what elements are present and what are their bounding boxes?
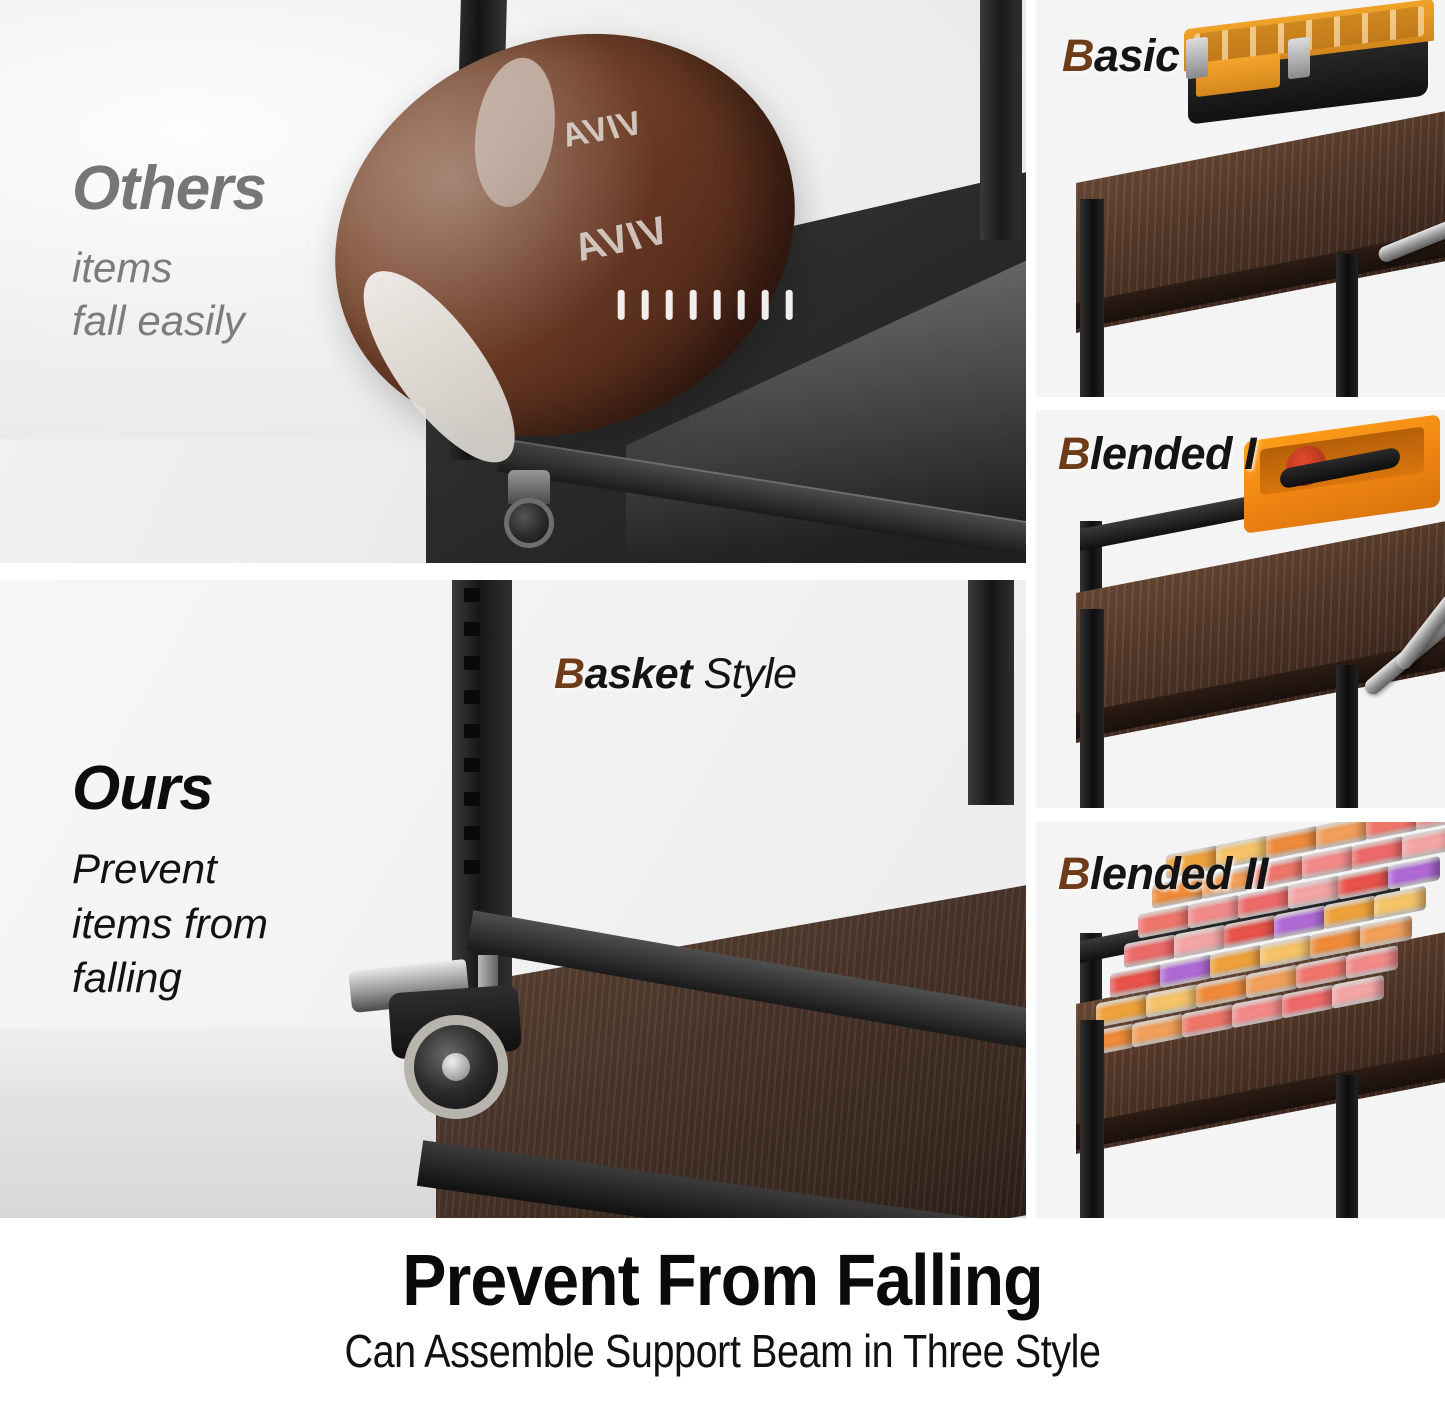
- basic-label-cap: B: [1062, 30, 1094, 81]
- others-subtext-line-1: items: [72, 242, 266, 295]
- orange-storage-bin: [1244, 428, 1440, 520]
- caster-hub: [442, 1053, 470, 1081]
- post-slot-holes: [464, 588, 480, 888]
- others-headline-block: Others items fall easily: [72, 158, 266, 347]
- ours-subtext-line-1: Prevent: [72, 842, 268, 897]
- bench-leg-right: [1336, 1075, 1358, 1218]
- blended-one-label-cap: B: [1058, 428, 1090, 479]
- ours-heading: Ours: [72, 758, 268, 820]
- shelf-upright-post-right: [968, 580, 1014, 805]
- caption-title: Prevent From Falling: [58, 1245, 1387, 1318]
- locking-caster-wheel: [350, 955, 530, 1115]
- basic-label: Basic: [1062, 30, 1180, 82]
- football-laces: [618, 290, 808, 324]
- basket-style-label-cap: B: [554, 650, 585, 698]
- football-stripe: [466, 53, 564, 212]
- caster-wheel-disc: [504, 498, 554, 548]
- toolbox-latch: [1288, 37, 1310, 80]
- blended-two-label: Blended II: [1058, 848, 1268, 900]
- shelf-upright-post-right: [980, 0, 1022, 240]
- blended-two-label-rest: lended II: [1090, 848, 1268, 899]
- others-subtext: items fall easily: [72, 242, 266, 347]
- ours-subtext-line-3: falling: [72, 951, 268, 1006]
- caster-wheel: [498, 470, 562, 544]
- toolbox-latch: [1186, 37, 1208, 80]
- blended-two-label-cap: B: [1058, 848, 1090, 899]
- blended-one-label-rest: lended I: [1090, 428, 1256, 479]
- bench-leg-right: [1336, 254, 1358, 397]
- caption-subtitle: Can Assemble Support Beam in Three Style: [101, 1324, 1344, 1378]
- ours-subtext: Prevent items from falling: [72, 842, 268, 1006]
- product-comparison-infographic: VIVA VIVA Others items fall easily: [0, 0, 1445, 1425]
- bench-leg-left: [1080, 609, 1104, 808]
- orange-toolbox: [1184, 14, 1434, 112]
- basket-style-label-word: [692, 650, 703, 698]
- others-heading: Others: [72, 158, 266, 220]
- basket-style-word: Style: [704, 650, 797, 698]
- basic-label-rest: asic: [1094, 30, 1180, 81]
- ball-brand-text: VIVA: [559, 104, 645, 156]
- bottom-caption: Prevent From Falling Can Assemble Suppor…: [0, 1245, 1445, 1378]
- basket-style-label-rest: asket: [585, 650, 692, 698]
- blended-one-label: Blended I: [1058, 428, 1256, 480]
- bench-leg-left: [1080, 1020, 1104, 1218]
- bench-leg-right: [1336, 665, 1358, 808]
- others-subtext-line-2: fall easily: [72, 295, 266, 348]
- basket-style-label: Basket Style: [554, 650, 797, 699]
- ours-subtext-line-2: items from: [72, 897, 268, 952]
- ours-headline-block: Ours Prevent items from falling: [72, 758, 268, 1006]
- bench-leg-left: [1080, 199, 1104, 398]
- ball-brand-text: VIVA: [570, 208, 672, 272]
